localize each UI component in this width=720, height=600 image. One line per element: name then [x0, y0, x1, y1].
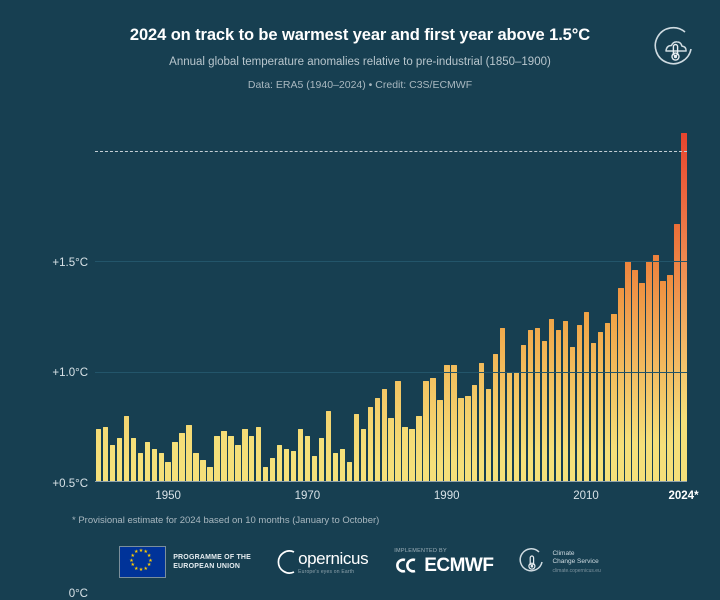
bar-1949 [159, 453, 164, 482]
ecmwf-implemented-label: IMPLEMENTED BY [394, 548, 493, 554]
footnote: * Provisional estimate for 2024 based on… [72, 515, 379, 526]
bar-2022 [667, 275, 672, 482]
gridline-0.5 [95, 372, 687, 373]
c3s-thermometer-cloud-icon [652, 26, 698, 72]
chart-credit: Data: ERA5 (1940–2024) • Credit: C3S/ECM… [0, 79, 720, 91]
bar-1968 [291, 451, 296, 482]
chart-header: 2024 on track to be warmest year and fir… [0, 0, 720, 91]
bar-1997 [493, 354, 498, 482]
bar-2007 [563, 321, 568, 482]
bar-series [95, 118, 687, 482]
bar-1940 [96, 429, 101, 482]
bar-1948 [152, 449, 157, 482]
bar-2010 [584, 312, 589, 482]
ecmwf-logo: IMPLEMENTED BY ECMWF [394, 548, 493, 577]
bar-1945 [131, 438, 136, 482]
bar-1946 [138, 453, 143, 482]
bar-1983 [395, 381, 400, 482]
bar-2002 [528, 330, 533, 482]
plot-area: 19501970199020102024* [95, 118, 687, 482]
bar-1952 [179, 433, 184, 482]
x-tick-2010: 2010 [573, 490, 599, 502]
eu-star-icon: ★ [134, 550, 138, 555]
bar-2024 [681, 133, 686, 482]
bar-1994 [472, 385, 477, 482]
bar-1972 [319, 438, 324, 482]
copernicus-logo-icon [277, 549, 297, 575]
bar-1942 [110, 445, 115, 483]
bar-1975 [340, 449, 345, 482]
threshold-line-1-5 [95, 151, 687, 152]
bar-1957 [214, 436, 219, 482]
bar-1971 [312, 456, 317, 482]
x-tick-2024: 2024* [668, 490, 698, 502]
bar-1993 [465, 396, 470, 482]
eu-label-line1: PROGRAMME OF THE [173, 553, 251, 562]
bar-1962 [249, 436, 254, 482]
c3s-url: climate.copernicus.eu [552, 568, 600, 574]
bar-1986 [416, 416, 421, 482]
bar-2013 [605, 323, 610, 482]
c3s-logo-icon [519, 548, 545, 576]
eu-logo: ★★★★★★★★★★★★ PROGRAMME OF THE EUROPEAN U… [119, 546, 251, 578]
bar-1967 [284, 449, 289, 482]
bar-1969 [298, 429, 303, 482]
x-tick-1970: 1970 [295, 490, 321, 502]
bar-2017 [632, 270, 637, 482]
bar-1985 [409, 429, 414, 482]
ecmwf-mark-icon [394, 558, 420, 573]
copernicus-tagline: Europe's eyes on Earth [298, 569, 368, 575]
bar-1988 [430, 378, 435, 482]
bar-2015 [618, 288, 623, 482]
y-tick-+1.0°C: +1.0°C [52, 367, 88, 379]
bar-2000 [514, 372, 519, 482]
bar-1954 [193, 453, 198, 482]
bar-1973 [326, 411, 331, 482]
bar-1970 [305, 436, 310, 482]
page-title: 2024 on track to be warmest year and fir… [0, 26, 720, 45]
bar-1956 [207, 467, 212, 482]
gridline-1 [95, 261, 687, 262]
eu-star-icon: ★ [143, 567, 147, 572]
bar-1966 [277, 445, 282, 483]
bar-1998 [500, 328, 505, 482]
copernicus-logo: opernicus Europe's eyes on Earth [277, 549, 368, 575]
bar-1980 [375, 398, 380, 482]
bar-1964 [263, 467, 268, 482]
bar-2005 [549, 319, 554, 482]
bar-1960 [235, 445, 240, 483]
bar-2003 [535, 328, 540, 482]
bar-1963 [256, 427, 261, 482]
bar-1953 [186, 425, 191, 482]
c3s-label-line1: Climate [552, 550, 600, 558]
bar-1992 [458, 398, 463, 482]
bar-1978 [361, 429, 366, 482]
c3s-logo: Climate Change Service climate.copernicu… [519, 548, 600, 576]
bar-1951 [172, 442, 177, 482]
bar-1996 [486, 389, 491, 482]
bar-2023 [674, 224, 679, 482]
bar-1950 [165, 462, 170, 482]
eu-label-line2: EUROPEAN UNION [173, 562, 251, 571]
x-axis-line [95, 481, 687, 482]
bar-2012 [598, 332, 603, 482]
bar-1995 [479, 363, 484, 482]
bar-1944 [124, 416, 129, 482]
bar-1941 [103, 427, 108, 482]
bar-2008 [570, 347, 575, 482]
eu-flag-icon: ★★★★★★★★★★★★ [119, 546, 166, 578]
bar-2021 [660, 281, 665, 482]
bar-2001 [521, 345, 526, 482]
bar-1989 [437, 400, 442, 482]
bar-1943 [117, 438, 122, 482]
temperature-anomaly-chart: 19501970199020102024* 0°C+0.5°C+1.0°C+1.… [0, 112, 720, 494]
y-tick-+0.5°C: +0.5°C [52, 478, 88, 490]
bar-2014 [611, 314, 616, 482]
bar-1982 [388, 418, 393, 482]
bar-1976 [347, 462, 352, 482]
bar-1990 [444, 365, 449, 482]
bar-1959 [228, 436, 233, 482]
x-tick-1950: 1950 [155, 490, 181, 502]
bar-2018 [639, 283, 644, 482]
logo-bar: ★★★★★★★★★★★★ PROGRAMME OF THE EUROPEAN U… [0, 540, 720, 584]
bar-1965 [270, 458, 275, 482]
bar-1987 [423, 381, 428, 482]
c3s-label-line2: Change Service [552, 558, 600, 566]
eu-star-icon: ★ [129, 559, 133, 564]
copernicus-wordmark: opernicus [298, 549, 368, 569]
x-tick-1990: 1990 [434, 490, 460, 502]
y-tick-+1.5°C: +1.5°C [52, 257, 88, 269]
bar-2009 [577, 325, 582, 482]
bar-1947 [145, 442, 150, 482]
bar-1955 [200, 460, 205, 482]
bar-1961 [242, 429, 247, 482]
bar-1974 [333, 453, 338, 482]
bar-1979 [368, 407, 373, 482]
eu-star-icon: ★ [130, 563, 134, 568]
bar-2020 [653, 255, 658, 482]
bar-1984 [402, 427, 407, 482]
y-tick-0°C: 0°C [69, 588, 88, 600]
ecmwf-wordmark: ECMWF [424, 555, 493, 577]
bar-1991 [451, 365, 456, 482]
eu-star-icon: ★ [139, 568, 143, 573]
bar-2004 [542, 341, 547, 482]
bar-1977 [354, 414, 359, 482]
bar-1958 [221, 431, 226, 482]
bar-2006 [556, 330, 561, 482]
bar-1999 [507, 372, 512, 482]
chart-subtitle: Annual global temperature anomalies rela… [0, 56, 720, 68]
bar-2011 [591, 343, 596, 482]
bar-1981 [382, 389, 387, 482]
